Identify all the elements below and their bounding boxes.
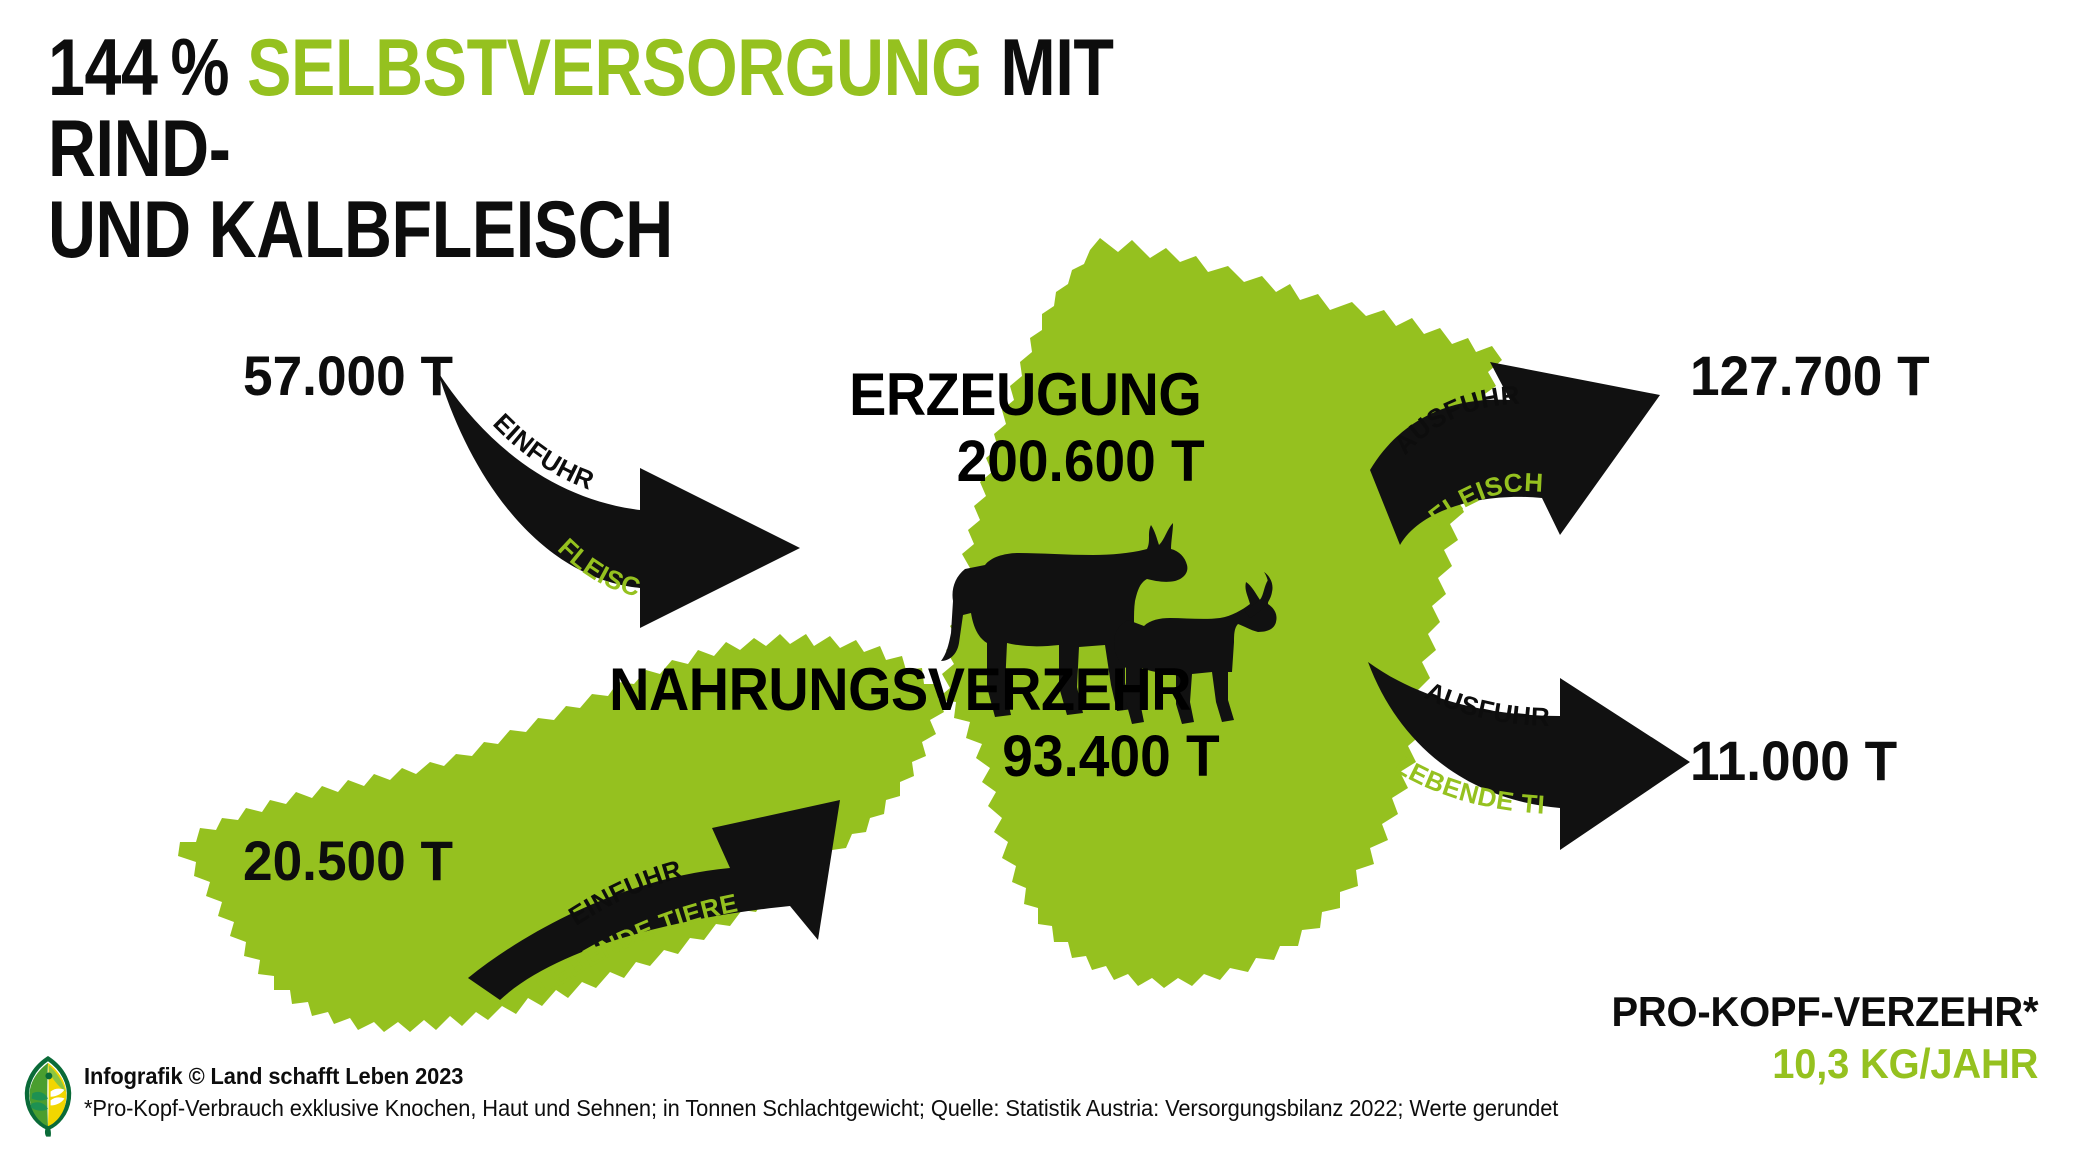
production-label: ERZEUGUNG — [849, 362, 1201, 428]
consumption-value: 93.400 T — [1002, 724, 1219, 789]
consumption-label: NAHRUNGSVERZEHR — [609, 657, 1191, 723]
flow-value-export-meat: 127.700 T — [1690, 343, 1930, 408]
leaf-logo — [22, 1053, 74, 1137]
footer: Infografik © Land schafft Leben 2023 *Pr… — [22, 1053, 1636, 1137]
per-capita-value: 10,3 KG/JAHR — [1611, 1040, 2038, 1088]
footer-credit: Infografik © Land schafft Leben 2023 — [84, 1063, 1558, 1090]
footer-source: *Pro-Kopf-Verbrauch exklusive Knochen, H… — [84, 1095, 1558, 1122]
flow-import-meat: EINFUHR FLEISCH — [0, 0, 800, 628]
infographic-canvas: 144 % SELBSTVERSORGUNG MIT RIND- UND KAL… — [0, 0, 2083, 1172]
per-capita-label: PRO-KOPF-VERZEHR* — [1611, 988, 2038, 1036]
production-value: 200.600 T — [957, 429, 1205, 494]
per-capita-block: PRO-KOPF-VERZEHR* 10,3 KG/JAHR — [1589, 988, 2038, 1088]
flow-value-import-meat: 57.000 T — [243, 343, 453, 408]
flow-value-import-live: 20.500 T — [243, 828, 453, 893]
flow-value-export-live: 11.000 T — [1690, 728, 1897, 793]
